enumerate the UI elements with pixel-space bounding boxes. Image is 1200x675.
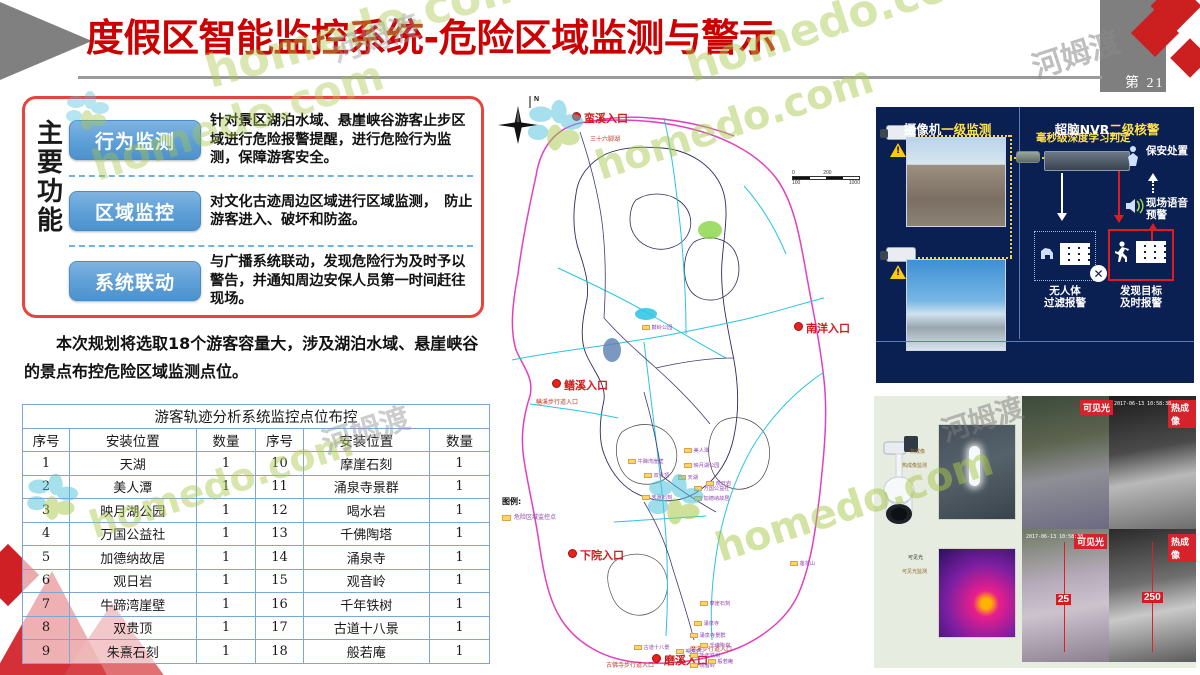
map-legend: 图例: 危险区域监控点 bbox=[502, 496, 556, 521]
map-poi-label[interactable]: 观日岩 bbox=[706, 480, 731, 487]
no-person-label: 无人体 过滤报警 bbox=[1032, 285, 1098, 309]
poi-marker-icon bbox=[642, 495, 650, 500]
table-cell: 1 bbox=[196, 499, 256, 523]
table-cell: 1 bbox=[429, 522, 489, 546]
ptz-camera-icon bbox=[880, 428, 924, 548]
scale-left: 0 bbox=[792, 170, 795, 176]
table-row[interactable]: 2美人潭111涌泉寺景群1 bbox=[23, 475, 490, 499]
table-header-cell: 安装位置 bbox=[70, 428, 196, 452]
table-cell: 古道十八景 bbox=[303, 616, 429, 640]
table-cell: 8 bbox=[23, 616, 70, 640]
wall-icon-1 bbox=[1060, 243, 1090, 265]
table-cell: 1 bbox=[23, 452, 70, 476]
table-cell: 加德纳故居 bbox=[70, 546, 196, 570]
table-cell: 1 bbox=[429, 640, 489, 664]
poi-marker-icon bbox=[694, 496, 702, 501]
table-cell: 13 bbox=[256, 522, 303, 546]
camera-label-visible-monitor: 可见光监测 bbox=[902, 568, 927, 575]
scale-mid: 200 bbox=[823, 170, 831, 176]
poi-marker-icon bbox=[700, 601, 708, 606]
map-poi-label[interactable]: 朱熹石刻 bbox=[642, 494, 672, 501]
map-walk-entrance-label: 鳝溪步行道入口 bbox=[536, 397, 578, 406]
link-dashed-vertical bbox=[1010, 135, 1012, 257]
poi-marker-icon bbox=[684, 448, 692, 453]
tag-thermal-1: 热成像 bbox=[1168, 400, 1196, 428]
table-cell: 天湖 bbox=[70, 452, 196, 476]
map-entrance-dot[interactable] bbox=[552, 379, 561, 388]
svg-text:N: N bbox=[534, 96, 539, 103]
map-entrance-label: 南洋入口 bbox=[806, 320, 850, 336]
osd-timestamp-2: 2017-06-13 10:58:38 bbox=[1026, 534, 1083, 540]
map-legend-item: 危险区域监控点 bbox=[502, 512, 556, 521]
poi-marker-icon bbox=[690, 663, 698, 668]
nvr-device-icon bbox=[1044, 151, 1130, 171]
map-entrance-label: 蛮溪入口 bbox=[584, 110, 628, 126]
map-entrance-dot[interactable] bbox=[568, 549, 577, 558]
scene-photo-cliff-crowd bbox=[906, 137, 1006, 227]
feature-row-linkage: 系统联动 与广播系统联动，发现危险行为及时予以警告，并通知周边安保人员第一时间赶… bbox=[69, 245, 473, 315]
poi-marker-icon bbox=[790, 561, 798, 566]
table-cell: 般若庵 bbox=[303, 640, 429, 664]
surveillance-photo-grid: 可见光 热成像 可见光 热成像 2017-06-13 10:58:38 2017… bbox=[1022, 396, 1196, 662]
poi-marker-icon bbox=[690, 633, 698, 638]
table-header-cell: 数量 bbox=[196, 428, 256, 452]
table-cell: 千年铁树 bbox=[303, 593, 429, 617]
table-cell: 1 bbox=[196, 593, 256, 617]
speaker-alert-icon bbox=[1124, 197, 1144, 215]
table-cell: 7 bbox=[23, 593, 70, 617]
map-poi-label[interactable]: 莲花山 bbox=[790, 560, 815, 567]
poi-marker-icon bbox=[678, 475, 686, 480]
dotted-line-guard bbox=[1152, 181, 1154, 193]
map-walk-entrance-label: 三十六脚湖 bbox=[590, 134, 620, 143]
table-cell: 观日岩 bbox=[70, 569, 196, 593]
network-switch-icon bbox=[1016, 151, 1040, 163]
warning-icon-2 bbox=[890, 265, 906, 279]
table-cell: 3 bbox=[23, 499, 70, 523]
main-functions-side-label: 主要功能 bbox=[33, 119, 67, 301]
map-poi-label[interactable]: 古道十八景 bbox=[634, 644, 669, 651]
table-header-cell: 安装位置 bbox=[303, 428, 429, 452]
thermal-image-person bbox=[938, 424, 1016, 520]
measure-value-visible: 25 bbox=[1056, 594, 1071, 605]
table-row[interactable]: 8双贵顶117古道十八景1 bbox=[23, 616, 490, 640]
map-poi-label[interactable]: 般若庵 bbox=[708, 658, 733, 665]
poi-marker-icon bbox=[642, 325, 650, 330]
feature-row-area: 区域监控 对文化古迹周边区域进行区域监测， 防止游客进入、破坏和防盗。 bbox=[69, 175, 473, 245]
table-row[interactable]: 7牛蹄湾崖壁116千年铁树1 bbox=[23, 593, 490, 617]
feature-button-area[interactable]: 区域监控 bbox=[69, 191, 201, 231]
table-cell: 1 bbox=[429, 616, 489, 640]
poi-marker-icon bbox=[694, 486, 702, 491]
poi-marker-icon bbox=[628, 459, 636, 464]
arrow-down-filter bbox=[1057, 213, 1067, 221]
poi-marker-icon bbox=[700, 643, 708, 648]
table-caption-row: 游客轨迹分析系统监控点位布控 bbox=[23, 405, 490, 429]
table-cell: 映月湖公园 bbox=[70, 499, 196, 523]
table-cell: 18 bbox=[256, 640, 303, 664]
map-poi-label[interactable]: 鼓岭公园 bbox=[642, 324, 672, 331]
link-dashed-bottom bbox=[918, 257, 1012, 259]
tag-visible-1: 可见光 bbox=[1080, 400, 1113, 415]
feature-button-behavior[interactable]: 行为监测 bbox=[69, 120, 201, 160]
table-header-row: 序号安装位置数量序号安装位置数量 bbox=[23, 428, 490, 452]
table-cell: 1 bbox=[196, 475, 256, 499]
map-entrance-label: 下院入口 bbox=[580, 547, 624, 563]
table-cell: 4 bbox=[23, 522, 70, 546]
table-cell: 16 bbox=[256, 593, 303, 617]
two-level-detection-diagram: 毫秒级深度学习判定 保安处置 现场语音预警 无人体 过滤报警 ✕ 发现目标 及时… bbox=[874, 105, 1196, 385]
table-cell: 1 bbox=[429, 569, 489, 593]
animal-dog-icon bbox=[1038, 243, 1056, 263]
compass-rose-icon: N bbox=[494, 92, 542, 150]
poi-marker-icon bbox=[694, 621, 702, 626]
table-cell: 12 bbox=[256, 499, 303, 523]
table-row[interactable]: 9朱熹石刻118般若庵1 bbox=[23, 640, 490, 664]
poi-marker-icon bbox=[644, 473, 652, 478]
map-poi-label[interactable]: 涌泉寺 bbox=[694, 620, 719, 627]
table-cell: 5 bbox=[23, 546, 70, 570]
table-cell: 朱熹石刻 bbox=[70, 640, 196, 664]
map-poi-label[interactable]: 千佛陶塔 bbox=[700, 642, 730, 649]
table-cell: 涌泉寺 bbox=[303, 546, 429, 570]
map-poi-label[interactable]: 牛蹄湾崖壁 bbox=[628, 458, 663, 465]
feature-rows: 行为监测 针对景区湖泊水域、悬崖峡谷游客止步区域进行危险报警提醒，进行危险行为监… bbox=[69, 105, 473, 309]
line-red-detect bbox=[1118, 171, 1120, 215]
footer-right-b: 二级核警 bbox=[1109, 119, 1159, 138]
footer-left-a: 摄像机 bbox=[904, 119, 942, 138]
table-cell: 1 bbox=[429, 499, 489, 523]
feature-text-behavior: 针对景区湖泊水域、悬崖峡谷游客止步区域进行危险报警提醒，进行危险行为监测，保障游… bbox=[201, 112, 473, 167]
title-underline bbox=[78, 76, 1102, 79]
table-cell: 1 bbox=[196, 616, 256, 640]
scale-sub-left: 100 bbox=[792, 180, 800, 186]
feature-text-area: 对文化古迹周边区域进行区域监测， 防止游客进入、破坏和防盗。 bbox=[201, 193, 473, 230]
diagram-footer-right: 超脑NVR二级核警 bbox=[1020, 107, 1194, 149]
map-walk-entrance-label: 古佛寺步行道入口 bbox=[606, 660, 654, 668]
table-cell: 喝水岩 bbox=[303, 499, 429, 523]
table-cell: 1 bbox=[429, 593, 489, 617]
table-cell: 1 bbox=[196, 452, 256, 476]
table-header-cell: 序号 bbox=[256, 428, 303, 452]
summary-paragraph: 本次规划将选取18个游客容量大，涉及湖泊水域、悬崖峡谷的景点布控危险区域监测点位… bbox=[24, 330, 486, 386]
map-scale-bar: 0 200 100 1000 bbox=[792, 170, 860, 186]
camera-label-visible: 可见光 bbox=[908, 554, 923, 561]
table-cell: 美人潭 bbox=[70, 475, 196, 499]
table-cell: 万国公益社 bbox=[70, 522, 196, 546]
osd-timestamp-1: 2017-06-13 10:58:38 bbox=[1114, 401, 1171, 407]
poi-marker-icon bbox=[706, 481, 714, 486]
measure-value-thermal: 250 bbox=[1142, 592, 1163, 603]
map-entrance-dot[interactable] bbox=[794, 322, 803, 331]
table-cell: 1 bbox=[429, 475, 489, 499]
table-cell: 涌泉寺景群 bbox=[303, 475, 429, 499]
table-cell: 14 bbox=[256, 546, 303, 570]
footer-right-a: 超脑NVR bbox=[1055, 119, 1110, 138]
camera-label-thermal: 热成像 bbox=[910, 448, 925, 455]
table-cell: 2 bbox=[23, 475, 70, 499]
map-poi-label[interactable]: 美人潭 bbox=[684, 447, 709, 454]
diagram-footer-left: 摄像机一级监测 bbox=[876, 107, 1019, 149]
scene-photo-rock-peak bbox=[906, 259, 1006, 351]
diagram-voice-label: 现场语音预警 bbox=[1146, 197, 1192, 221]
arrow-down-detect bbox=[1114, 215, 1124, 223]
table-row[interactable]: 4万国公益社113千佛陶塔1 bbox=[23, 522, 490, 546]
photo-cell-visible-day bbox=[1022, 396, 1109, 529]
table-cell: 10 bbox=[256, 452, 303, 476]
tag-thermal-2: 热成像 bbox=[1168, 534, 1196, 562]
map-entrance-dot[interactable] bbox=[572, 112, 581, 121]
feature-row-behavior: 行为监测 针对景区湖泊水域、悬崖峡谷游客止步区域进行危险报警提醒，进行危险行为监… bbox=[69, 105, 473, 175]
thermal-image-palette bbox=[938, 548, 1016, 638]
line-white-filter bbox=[1061, 173, 1063, 213]
left-triangle-decoration bbox=[0, 2, 92, 80]
table-cell: 9 bbox=[23, 640, 70, 664]
table-header-cell: 数量 bbox=[429, 428, 489, 452]
table-cell: 1 bbox=[196, 546, 256, 570]
table-cell: 15 bbox=[256, 569, 303, 593]
monitoring-points-table-wrapper: 游客轨迹分析系统监控点位布控序号安装位置数量序号安装位置数量1天湖110摩崖石刻… bbox=[22, 404, 490, 664]
wall-icon-2 bbox=[1136, 241, 1166, 263]
map-entrance-label: 鳝溪入口 bbox=[564, 377, 608, 393]
diagram-footer bbox=[876, 341, 1194, 383]
table-row[interactable]: 3映月湖公园112喝水岩1 bbox=[23, 499, 490, 523]
table-cell: 6 bbox=[23, 569, 70, 593]
map-poi-label[interactable]: 天湖 bbox=[678, 474, 698, 481]
poi-marker-icon bbox=[690, 653, 698, 658]
running-person-icon bbox=[1112, 241, 1130, 263]
poi-marker-icon bbox=[708, 659, 716, 664]
table-cell: 牛蹄湾崖壁 bbox=[70, 593, 196, 617]
table-cell: 1 bbox=[196, 522, 256, 546]
poi-marker-icon bbox=[634, 645, 642, 650]
map-poi-label[interactable]: 摩崖石刻 bbox=[700, 600, 730, 607]
feature-button-linkage[interactable]: 系统联动 bbox=[69, 261, 201, 301]
table-cell: 17 bbox=[256, 616, 303, 640]
table-cell: 11 bbox=[256, 475, 303, 499]
scale-sub-right: 1000 bbox=[849, 180, 860, 186]
cross-mark-icon: ✕ bbox=[1090, 265, 1107, 282]
table-row[interactable]: 1天湖110摩崖石刻1 bbox=[23, 452, 490, 476]
table-cell: 1 bbox=[196, 640, 256, 664]
poi-marker-icon bbox=[684, 463, 692, 468]
legend-swatch-icon bbox=[502, 515, 511, 521]
feature-text-linkage: 与广播系统联动，发现危险行为及时予以警告，并通知周边安保人员第一时间赶往现场。 bbox=[201, 253, 473, 308]
map-legend-title: 图例: bbox=[502, 496, 556, 507]
table-cell: 1 bbox=[196, 569, 256, 593]
thermal-camera-photo-panel: 热成像 热成像监测 可见光 可见光监测 可见光 热成像 可见光 热成像 2017… bbox=[874, 396, 1196, 668]
footer-left-b: 一级监测 bbox=[941, 119, 991, 138]
table-cell: 1 bbox=[429, 546, 489, 570]
scenic-area-map[interactable]: N 0 200 100 1000 图例: 危险区域监控点 蛮溪入口南洋入口鳝溪入… bbox=[494, 92, 870, 668]
table-cell: 摩崖石刻 bbox=[303, 452, 429, 476]
main-functions-card: 主要功能 行为监测 针对景区湖泊水域、悬崖峡谷游客止步区域进行危险报警提醒，进行… bbox=[22, 96, 484, 318]
table-row[interactable]: 5加德纳故居114涌泉寺1 bbox=[23, 546, 490, 570]
page-title: 度假区智能监控系统-危险区域监测与警示 bbox=[86, 10, 846, 66]
poi-marker-icon bbox=[676, 649, 684, 654]
map-poi-label[interactable]: 涌泉寺景群 bbox=[690, 632, 725, 639]
table-cell: 观音岭 bbox=[303, 569, 429, 593]
arrow-up-to-guard bbox=[1148, 173, 1158, 181]
table-cell: 双贵顶 bbox=[70, 616, 196, 640]
map-poi-label[interactable]: 映月湖公园 bbox=[684, 462, 719, 469]
page-number: 第 21 页 bbox=[1125, 72, 1186, 92]
table-caption: 游客轨迹分析系统监控点位布控 bbox=[23, 405, 490, 429]
found-target-label: 发现目标 及时报警 bbox=[1106, 285, 1176, 309]
map-poi-label[interactable]: 加德纳故居 bbox=[694, 495, 729, 502]
table-cell: 1 bbox=[429, 452, 489, 476]
table-row[interactable]: 6观日岩115观音岭1 bbox=[23, 569, 490, 593]
table-header-cell: 序号 bbox=[23, 428, 70, 452]
camera-label-thermal-monitor: 热成像监测 bbox=[902, 462, 927, 469]
map-poi-label[interactable]: 双贵顶 bbox=[644, 472, 669, 479]
table-cell: 千佛陶塔 bbox=[303, 522, 429, 546]
monitoring-points-table: 游客轨迹分析系统监控点位布控序号安装位置数量序号安装位置数量1天湖110摩崖石刻… bbox=[22, 404, 490, 664]
